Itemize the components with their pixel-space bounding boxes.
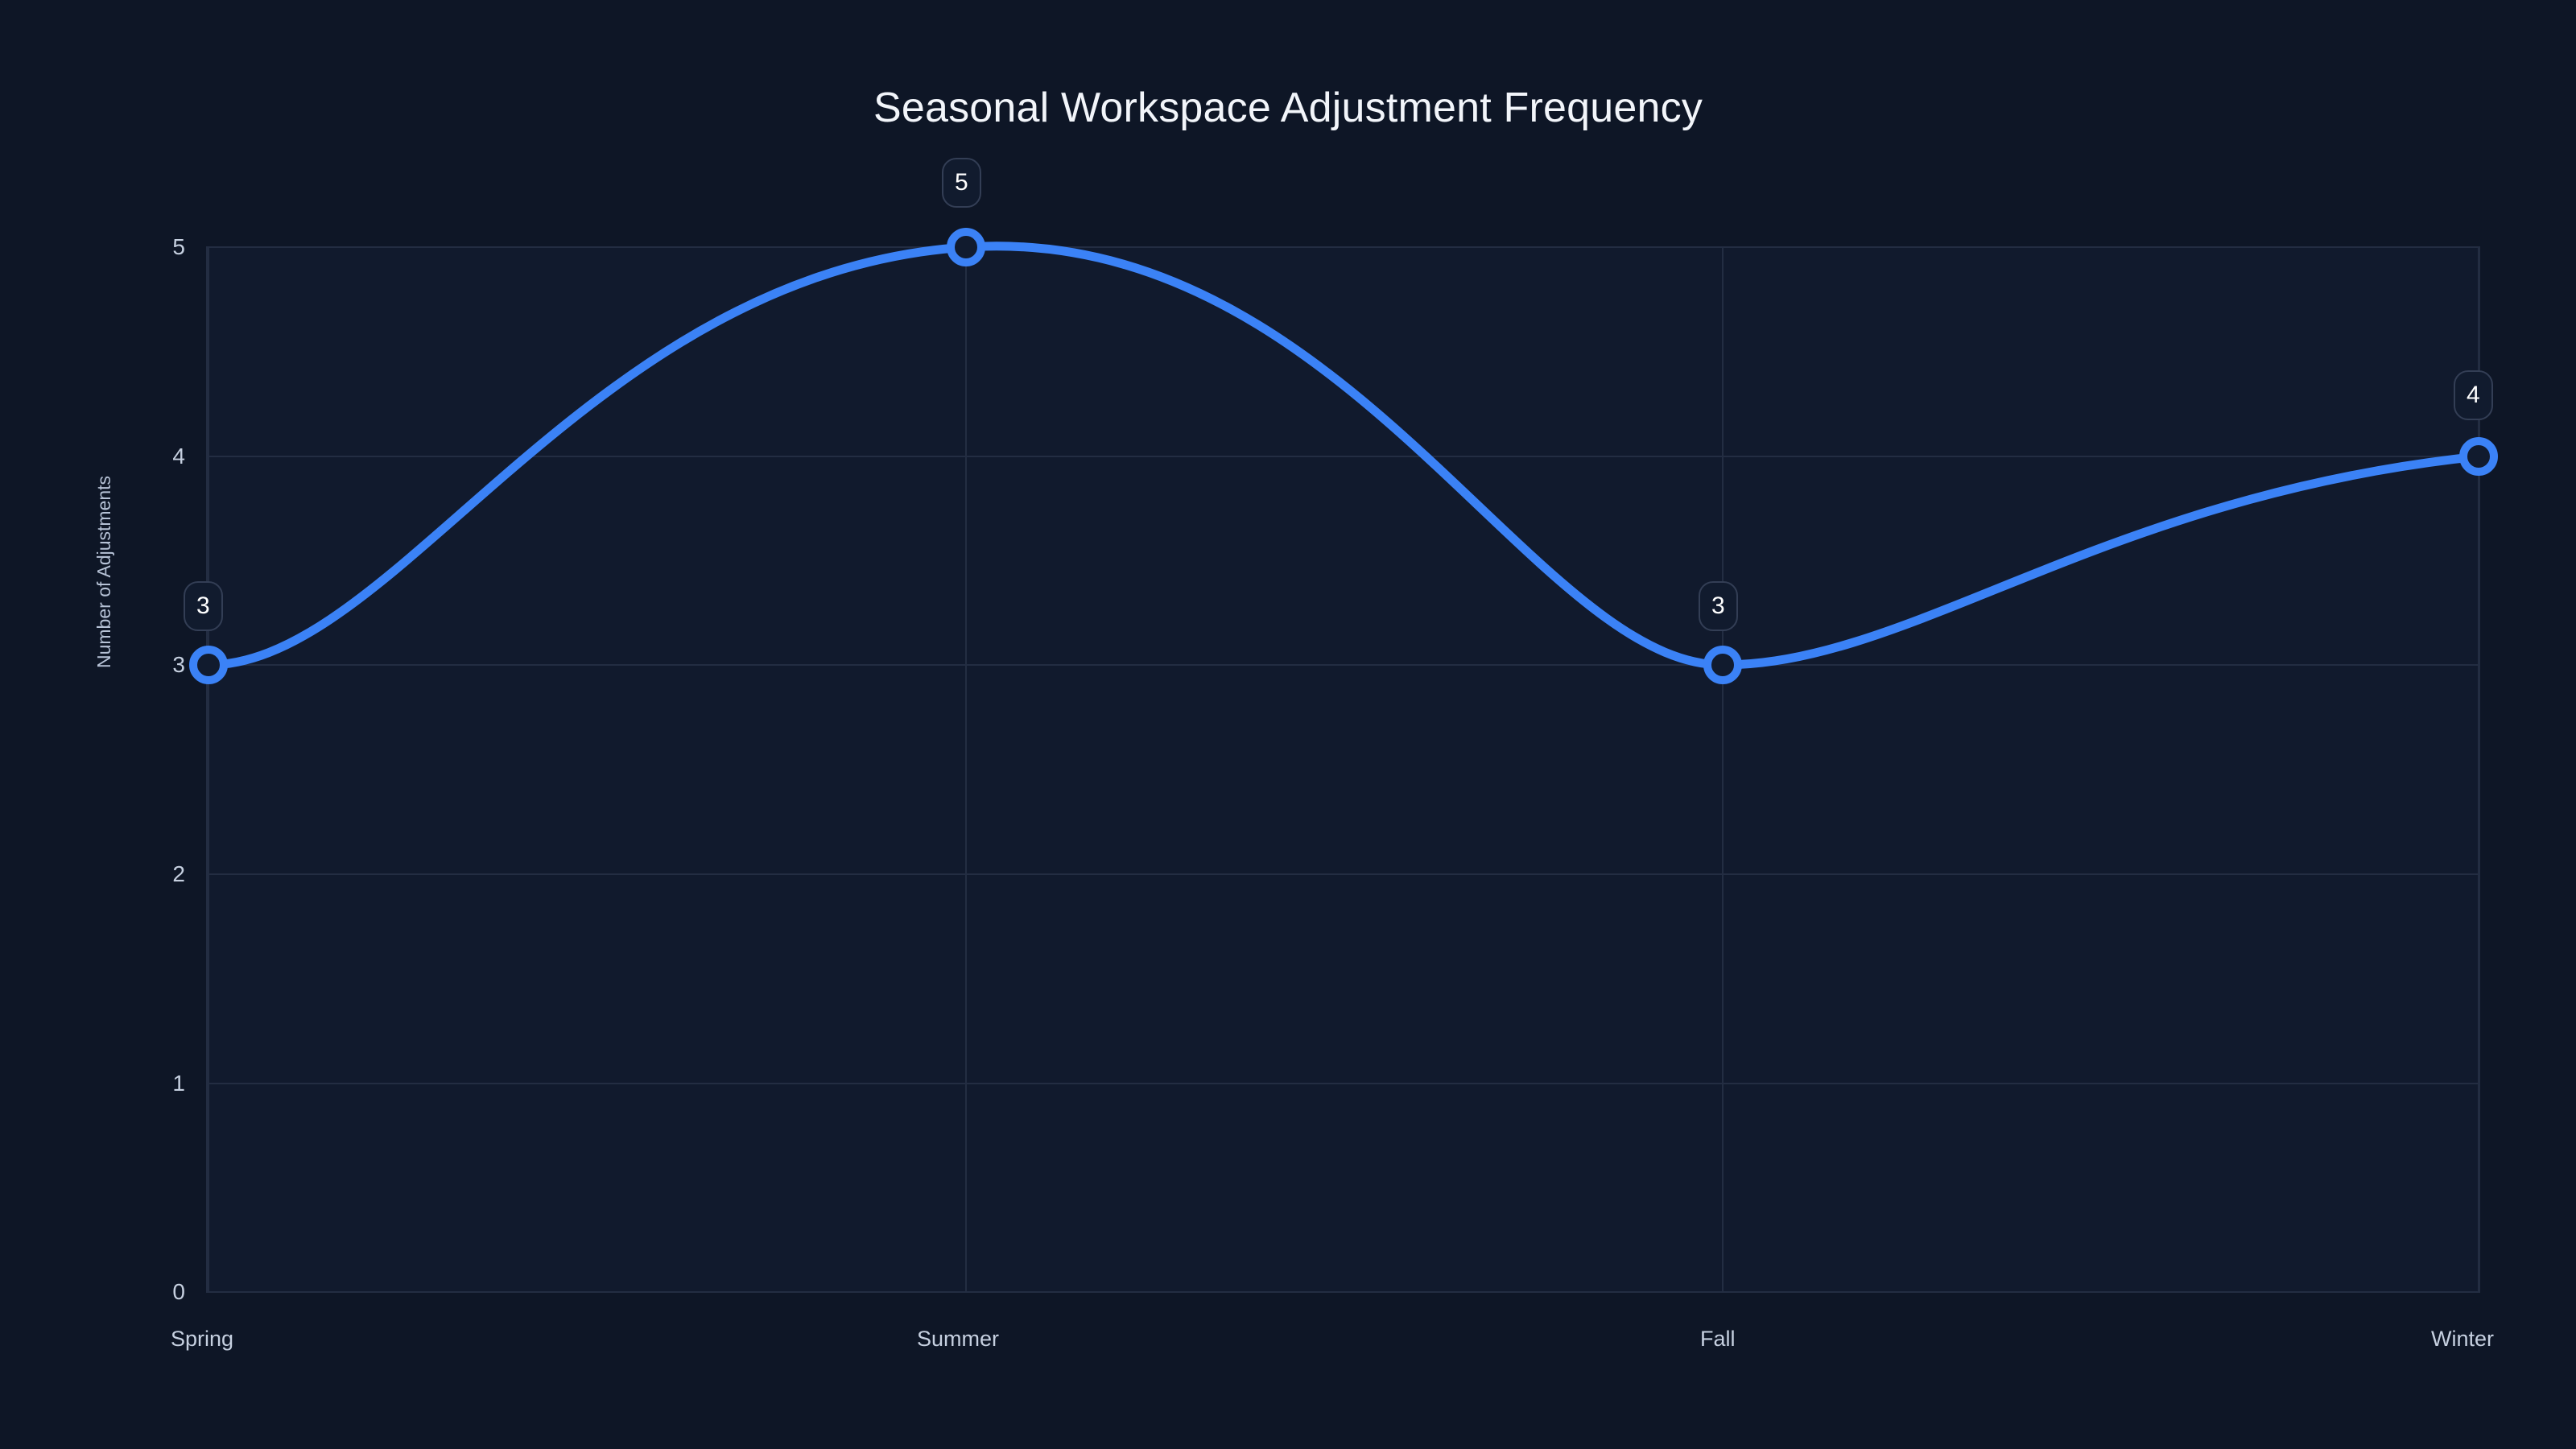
y-tick-label: 0 (137, 1281, 185, 1303)
x-tick-label-fall: Fall (1700, 1328, 1736, 1350)
value-badge-summer: 5 (942, 158, 981, 208)
x-tick-label-winter: Winter (2431, 1328, 2494, 1350)
x-tick-label-summer: Summer (917, 1328, 999, 1350)
y-tick-label: 2 (137, 863, 185, 885)
data-point-summer[interactable] (951, 232, 981, 262)
value-badge-fall: 3 (1699, 581, 1738, 631)
chart-canvas: Seasonal Workspace Adjustment Frequency (0, 0, 2576, 1449)
x-tick-label-spring: Spring (171, 1328, 233, 1350)
y-tick-label: 1 (137, 1072, 185, 1095)
data-point-spring[interactable] (193, 650, 224, 680)
data-point-fall[interactable] (1707, 650, 1738, 680)
data-point-winter[interactable] (2463, 441, 2494, 472)
value-badge-winter: 4 (2454, 370, 2493, 420)
line-chart-plot (0, 0, 2576, 1449)
y-tick-label: 4 (137, 445, 185, 468)
y-tick-label: 5 (137, 236, 185, 258)
value-badge-spring: 3 (184, 581, 223, 631)
y-axis-title: Number of Adjustments (95, 636, 114, 668)
y-tick-label: 3 (137, 654, 185, 676)
plot-area-background (207, 247, 2479, 1292)
